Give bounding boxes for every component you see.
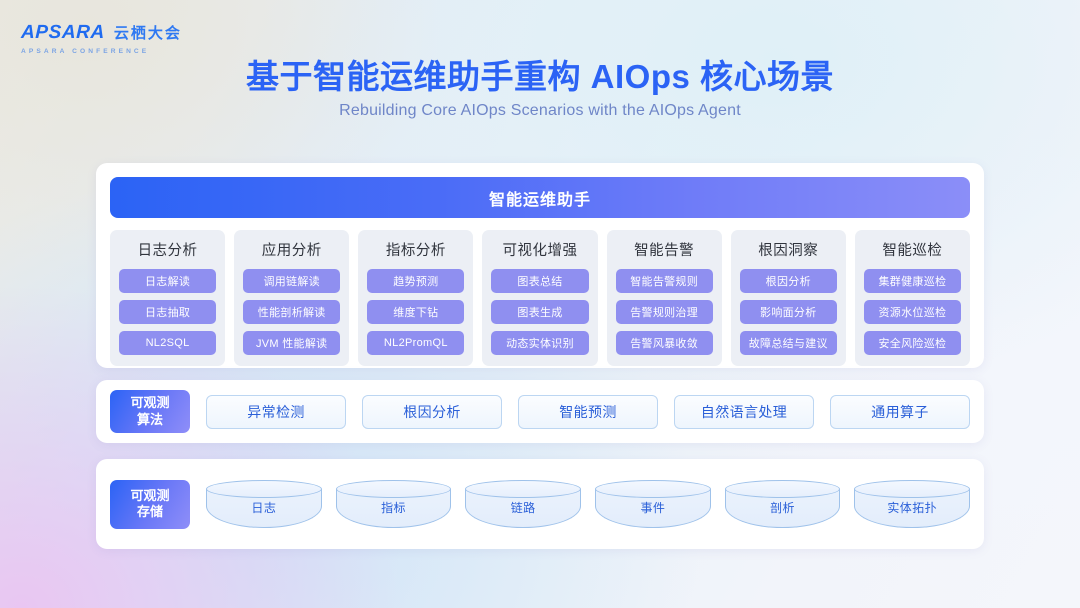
assistant-column: 根因洞察根因分析影响面分析故障总结与建议 bbox=[731, 230, 846, 366]
page-subtitle: Rebuilding Core AIOps Scenarios with the… bbox=[0, 102, 1080, 120]
cylinder-top-icon bbox=[465, 480, 581, 498]
algorithm-item[interactable]: 智能预测 bbox=[518, 395, 658, 429]
storage-cylinder[interactable]: 实体拓扑 bbox=[854, 480, 970, 528]
assistant-column: 智能告警智能告警规则告警规则治理告警风暴收敛 bbox=[607, 230, 722, 366]
storage-cylinder-label: 实体拓扑 bbox=[887, 499, 937, 528]
assistant-column-title: 根因洞察 bbox=[758, 239, 818, 260]
cylinder-top-icon bbox=[854, 480, 970, 498]
assistant-capability-pill[interactable]: 趋势预测 bbox=[367, 269, 464, 293]
page-title: 基于智能运维助手重构 AIOps 核心场景 bbox=[0, 50, 1080, 98]
storage-cylinder[interactable]: 链路 bbox=[465, 480, 581, 528]
assistant-capability-pill[interactable]: 告警风暴收敛 bbox=[616, 331, 713, 355]
assistant-column-title: 日志分析 bbox=[138, 239, 198, 260]
algorithm-item-list: 异常检测根因分析智能预测自然语言处理通用算子 bbox=[206, 395, 970, 429]
assistant-column-title: 智能巡检 bbox=[882, 239, 942, 260]
assistant-capability-pill[interactable]: 图表总结 bbox=[491, 269, 588, 293]
algorithm-panel: 可观测 算法 异常检测根因分析智能预测自然语言处理通用算子 bbox=[96, 380, 984, 443]
assistant-capability-pill[interactable]: 智能告警规则 bbox=[616, 269, 713, 293]
assistant-capability-pill[interactable]: 集群健康巡检 bbox=[864, 269, 961, 293]
algorithm-item[interactable]: 异常检测 bbox=[206, 395, 346, 429]
assistant-capability-pill[interactable]: 资源水位巡检 bbox=[864, 300, 961, 324]
assistant-column-title: 智能告警 bbox=[634, 239, 694, 260]
storage-cylinder[interactable]: 日志 bbox=[206, 480, 322, 528]
assistant-capability-pill[interactable]: 安全风险巡检 bbox=[864, 331, 961, 355]
storage-cylinder-label: 事件 bbox=[640, 499, 665, 528]
assistant-column-title: 指标分析 bbox=[386, 239, 446, 260]
storage-cylinder[interactable]: 剖析 bbox=[725, 480, 841, 528]
storage-cylinder-label: 链路 bbox=[511, 499, 536, 528]
cylinder-top-icon bbox=[725, 480, 841, 498]
assistant-capability-pill[interactable]: 日志解读 bbox=[119, 269, 216, 293]
algorithm-badge: 可观测 算法 bbox=[110, 390, 190, 433]
assistant-capability-pill[interactable]: 告警规则治理 bbox=[616, 300, 713, 324]
assistant-column: 指标分析趋势预测维度下钻NL2PromQL bbox=[358, 230, 473, 366]
storage-badge-line1: 可观测 bbox=[130, 488, 169, 504]
assistant-capability-pill[interactable]: NL2SQL bbox=[119, 331, 216, 355]
algorithm-item[interactable]: 通用算子 bbox=[830, 395, 970, 429]
assistant-capability-pill[interactable]: 影响面分析 bbox=[740, 300, 837, 324]
assistant-column: 可视化增强图表总结图表生成动态实体识别 bbox=[482, 230, 597, 366]
assistant-capability-pill[interactable]: NL2PromQL bbox=[367, 331, 464, 355]
assistant-column: 智能巡检集群健康巡检资源水位巡检安全风险巡检 bbox=[855, 230, 970, 366]
assistant-capability-pill[interactable]: 图表生成 bbox=[491, 300, 588, 324]
assistant-capability-pill[interactable]: 调用链解读 bbox=[243, 269, 340, 293]
logo-brand-en: APSARA bbox=[21, 22, 106, 44]
assistant-capability-pill[interactable]: JVM 性能解读 bbox=[243, 331, 340, 355]
assistant-capability-pill[interactable]: 故障总结与建议 bbox=[740, 331, 837, 355]
cylinder-top-icon bbox=[336, 480, 452, 498]
storage-cylinder[interactable]: 事件 bbox=[595, 480, 711, 528]
algorithm-badge-line1: 可观测 bbox=[130, 395, 169, 411]
storage-cylinder[interactable]: 指标 bbox=[336, 480, 452, 528]
assistant-column: 日志分析日志解读日志抽取NL2SQL bbox=[110, 230, 225, 366]
storage-cylinder-label: 指标 bbox=[381, 499, 406, 528]
assistant-capability-pill[interactable]: 性能剖析解读 bbox=[243, 300, 340, 324]
assistant-column: 应用分析调用链解读性能剖析解读JVM 性能解读 bbox=[234, 230, 349, 366]
assistant-header-bar: 智能运维助手 bbox=[110, 177, 970, 218]
assistant-capability-pill[interactable]: 日志抽取 bbox=[119, 300, 216, 324]
assistant-panel: 智能运维助手 日志分析日志解读日志抽取NL2SQL应用分析调用链解读性能剖析解读… bbox=[96, 163, 984, 368]
cylinder-top-icon bbox=[206, 480, 322, 498]
algorithm-item[interactable]: 自然语言处理 bbox=[674, 395, 814, 429]
assistant-column-title: 应用分析 bbox=[262, 239, 322, 260]
cylinder-top-icon bbox=[595, 480, 711, 498]
logo-brand-cn: 云栖大会 bbox=[114, 22, 182, 44]
algorithm-item[interactable]: 根因分析 bbox=[362, 395, 502, 429]
storage-badge: 可观测 存储 bbox=[110, 480, 190, 529]
assistant-header-label: 智能运维助手 bbox=[489, 186, 591, 210]
assistant-capability-pill[interactable]: 维度下钻 bbox=[367, 300, 464, 324]
storage-panel: 可观测 存储 日志指标链路事件剖析实体拓扑 bbox=[96, 459, 984, 549]
assistant-capability-pill[interactable]: 根因分析 bbox=[740, 269, 837, 293]
algorithm-badge-line2: 算法 bbox=[130, 412, 169, 428]
assistant-capability-pill[interactable]: 动态实体识别 bbox=[491, 331, 588, 355]
storage-badge-line2: 存储 bbox=[130, 504, 169, 520]
storage-cylinder-label: 剖析 bbox=[770, 499, 795, 528]
storage-cylinder-label: 日志 bbox=[251, 499, 276, 528]
storage-item-list: 日志指标链路事件剖析实体拓扑 bbox=[206, 480, 970, 528]
assistant-column-list: 日志分析日志解读日志抽取NL2SQL应用分析调用链解读性能剖析解读JVM 性能解… bbox=[110, 230, 970, 366]
assistant-column-title: 可视化增强 bbox=[502, 239, 577, 260]
